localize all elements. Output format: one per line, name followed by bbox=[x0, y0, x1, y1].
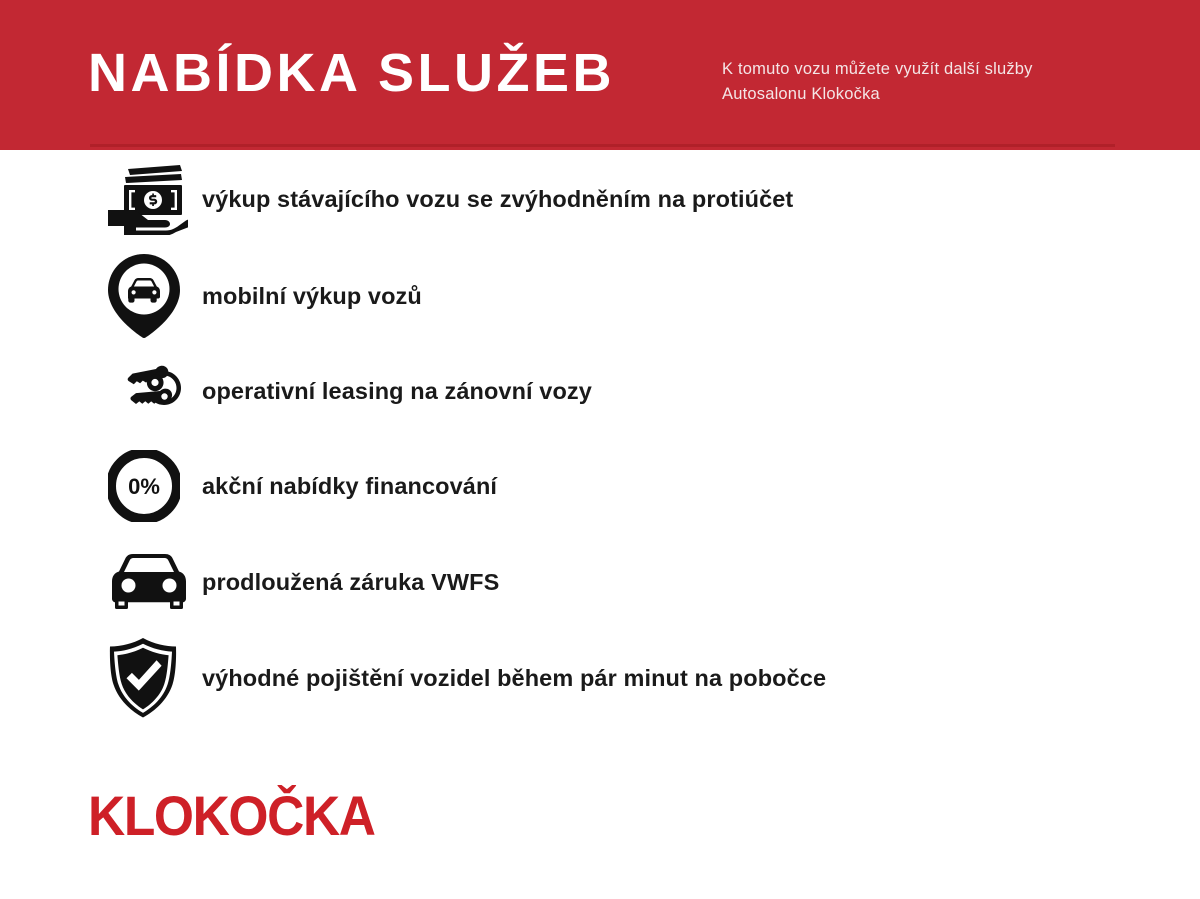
header-subtitle-line-1: K tomuto vozu můžete využít další služby bbox=[722, 57, 1033, 82]
list-item-label: operativní leasing na zánovní vozy bbox=[202, 378, 592, 405]
map-pin-car-icon bbox=[108, 256, 204, 336]
car-keys-icon bbox=[108, 351, 204, 431]
page-header: NABÍDKA SLUŽEB K tomuto vozu můžete využ… bbox=[0, 0, 1200, 150]
list-item-label: výkup stávajícího vozu se zvýhodněním na… bbox=[202, 186, 793, 213]
list-item: mobilní výkup vozů bbox=[0, 248, 1200, 344]
cash-in-hand-icon bbox=[108, 159, 204, 239]
list-item-label: mobilní výkup vozů bbox=[202, 283, 422, 310]
list-item-label: výhodné pojištění vozidel během pár minu… bbox=[202, 665, 826, 692]
brand-logo-text: KLOKOČKA bbox=[88, 788, 438, 844]
service-offer-page: NABÍDKA SLUŽEB K tomuto vozu můžete využ… bbox=[0, 0, 1200, 899]
header-subtitle-line-2: Autosalonu Klokočka bbox=[722, 82, 1033, 107]
brand-logo: KLOKOČKA bbox=[88, 788, 468, 848]
list-item: výkup stávajícího vozu se zvýhodněním na… bbox=[0, 150, 1200, 248]
service-list: výkup stávajícího vozu se zvýhodněním na… bbox=[0, 150, 1200, 726]
list-item: prodloužená záruka VWFS bbox=[0, 534, 1200, 630]
list-item: operativní leasing na zánovní vozy bbox=[0, 344, 1200, 438]
zero-percent-circle-icon: 0% bbox=[108, 446, 204, 526]
list-item: výhodné pojištění vozidel během pár minu… bbox=[0, 630, 1200, 726]
header-subtitle: K tomuto vozu můžete využít další služby… bbox=[722, 57, 1033, 107]
list-item-label: akční nabídky financování bbox=[202, 473, 497, 500]
header-divider-line bbox=[90, 144, 1115, 147]
list-item: 0% akční nabídky financování bbox=[0, 438, 1200, 534]
page-title: NABÍDKA SLUŽEB bbox=[88, 44, 615, 102]
shield-check-icon bbox=[108, 638, 204, 718]
zero-percent-label: 0% bbox=[128, 474, 160, 499]
car-front-icon bbox=[108, 542, 204, 622]
list-item-label: prodloužená záruka VWFS bbox=[202, 569, 499, 596]
